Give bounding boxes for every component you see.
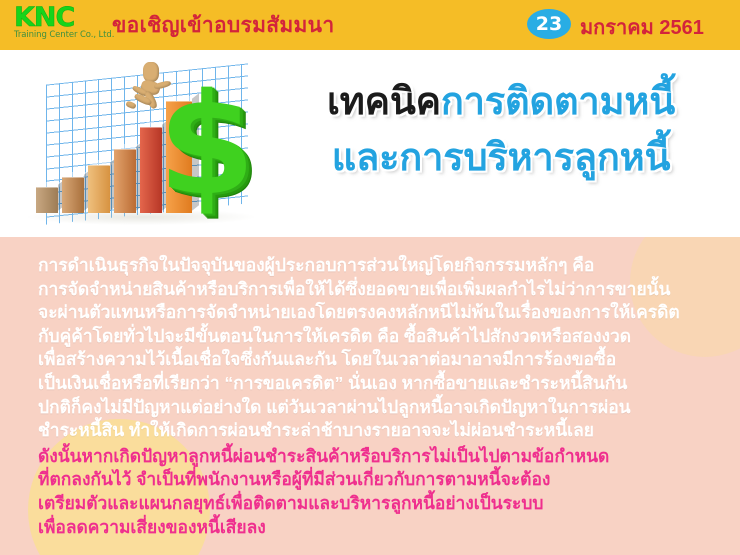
title-prefix: เทคนิค — [327, 81, 441, 123]
growth-chart-illustration: $ — [6, 52, 274, 235]
hero-section: $ เทคนิคการติดตามหนี้ และการบริหารลูกหนี… — [0, 50, 740, 237]
course-title: เทคนิคการติดตามหนี้ และการบริหารลูกหนี้ — [268, 74, 734, 186]
flyer-page: KNC Training Center Co., Ltd. ขอเชิญเข้า… — [0, 0, 740, 555]
dollar-sign-icon: $ — [158, 76, 255, 216]
chart-bar — [36, 187, 58, 213]
description-paragraph-primary: การดำเนินธุรกิจในปัจจุบันของผู้ประกอบการ… — [0, 237, 740, 443]
header-bar: KNC Training Center Co., Ltd. ขอเชิญเข้า… — [0, 0, 740, 50]
logo-wordmark: KNC — [14, 5, 110, 31]
title-main-1: การติดตามหนี้ — [441, 81, 675, 123]
description-paragraph-highlight: ดังนั้นหากเกิดปัญหาลูกหนี้ผ่อนชำระสินค้า… — [0, 443, 740, 539]
invite-heading: ขอเชิญเข้าอบรมสัมมนา — [112, 9, 334, 42]
chart-bar — [114, 149, 136, 213]
description-section: การดำเนินธุรกิจในปัจจุบันของผู้ประกอบการ… — [0, 237, 740, 555]
date-day-number: 23 — [536, 15, 562, 34]
knc-logo[interactable]: KNC Training Center Co., Ltd. — [14, 5, 110, 43]
chart-bar — [88, 165, 110, 213]
course-title-line-1: เทคนิคการติดตามหนี้ — [268, 74, 734, 130]
course-title-line-2: และการบริหารลูกหนี้ — [268, 130, 734, 186]
chart-bar — [62, 177, 84, 213]
date-month-year: มกราคม 2561 — [580, 11, 704, 43]
logo-tagline: Training Center Co., Ltd. — [14, 30, 110, 40]
date-day-badge: 23 — [527, 9, 571, 39]
